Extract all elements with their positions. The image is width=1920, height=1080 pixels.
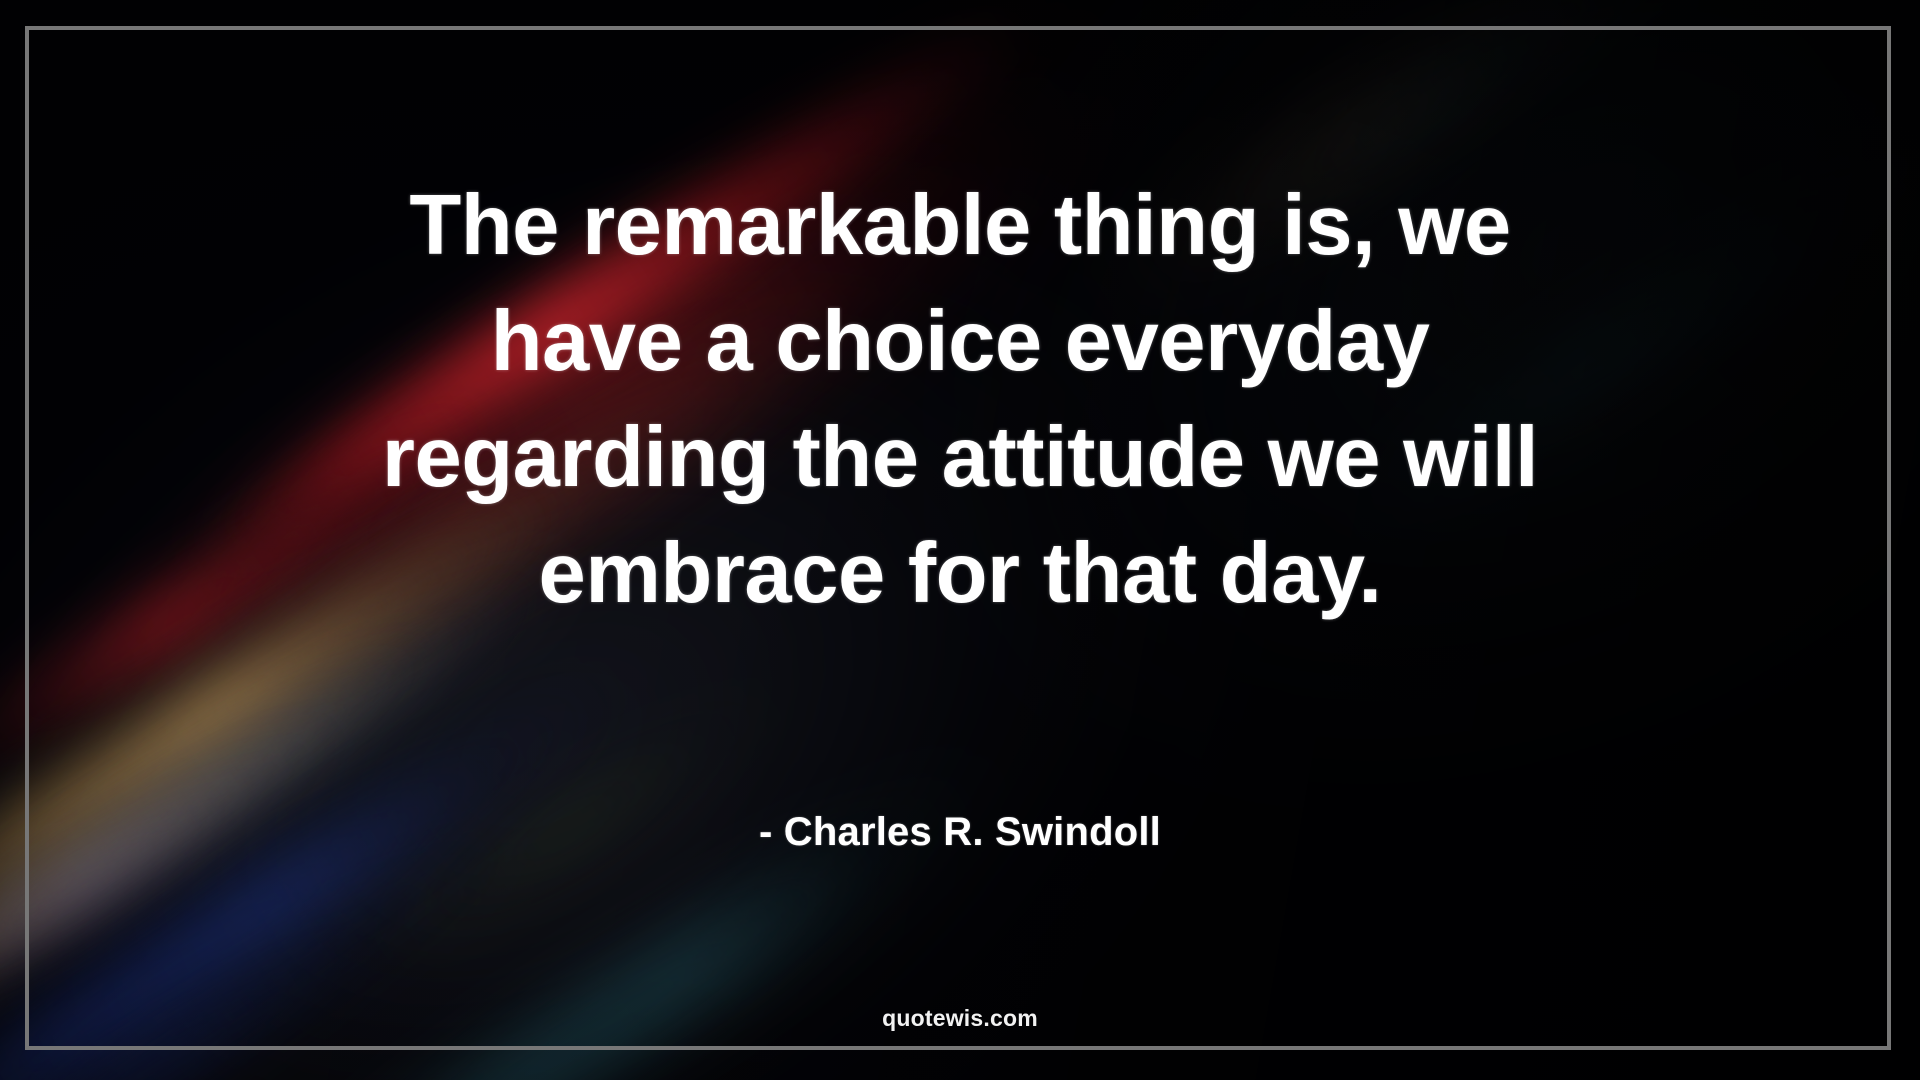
quote-attribution: - Charles R. Swindoll [0,810,1920,855]
quote-line-2: have a choice everyday [80,284,1840,400]
quote-line-4: embrace for that day. [80,516,1840,632]
site-watermark: quotewis.com [0,1005,1920,1032]
quote-card: The remarkable thing is, we have a choic… [0,0,1920,1080]
quote-text: The remarkable thing is, we have a choic… [0,168,1920,632]
quote-line-3: regarding the attitude we will [80,400,1840,516]
quote-line-1: The remarkable thing is, we [80,168,1840,284]
content-layer: The remarkable thing is, we have a choic… [0,0,1920,1080]
